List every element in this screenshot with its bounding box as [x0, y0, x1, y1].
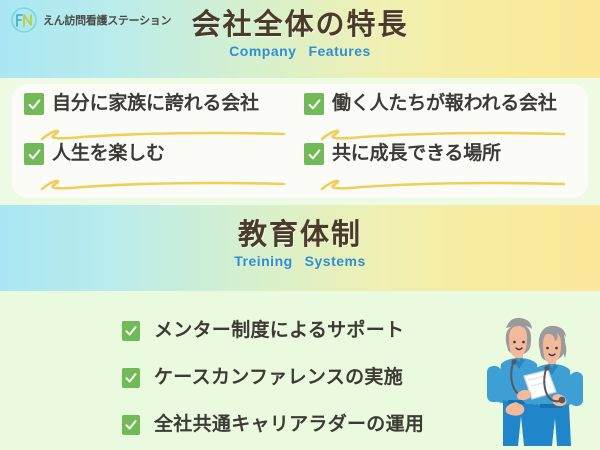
section-subtitle-word-1: Company — [229, 43, 296, 59]
list-item-label: 人生を楽しむ — [52, 140, 165, 168]
training-list: メンター制度によるサポート ケースカンファレンスの実施 全社共通キャリアラダーの… — [122, 307, 424, 448]
list-item[interactable]: 働く人たちが報われる会社 — [300, 90, 580, 140]
section-heading-company: 会社全体の特長 CompanyFeatures — [0, 8, 600, 59]
list-item[interactable]: 自分に家族に誇れる会社 — [20, 90, 300, 140]
section-subtitle-en: CompanyFeatures — [0, 43, 600, 59]
list-item-label: 共に成長できる場所 — [332, 140, 501, 168]
section-subtitle-word-2: Systems — [305, 253, 366, 269]
company-features-card: 自分に家族に誇れる会社 働く人たちが報われる会社 人生を楽しむ — [12, 84, 588, 198]
list-item-label: 働く人たちが報われる会社 — [332, 90, 557, 118]
check-icon — [24, 143, 44, 165]
section-heading-training: 教育体制 TreiningSystems — [0, 218, 600, 269]
list-item-label: メンター制度によるサポート — [154, 317, 404, 345]
two-nurses-illustration — [476, 298, 594, 450]
check-icon — [304, 143, 324, 165]
slide-root: えん訪問看護ステーション 会社全体の特長 CompanyFeatures 自分に… — [0, 0, 600, 450]
list-item[interactable]: メンター制度によるサポート — [122, 307, 424, 354]
section-title-jp: 教育体制 — [0, 218, 600, 252]
section-subtitle-en: TreiningSystems — [0, 253, 600, 269]
list-item[interactable]: 人生を楽しむ — [20, 140, 300, 190]
section-subtitle-word-1: Treining — [234, 253, 292, 269]
underline-swoosh-icon — [318, 176, 568, 192]
section-title-jp: 会社全体の特長 — [0, 8, 600, 42]
underline-swoosh-icon — [38, 176, 288, 192]
list-item-label: ケースカンファレンスの実施 — [154, 364, 403, 392]
check-icon — [24, 93, 44, 115]
list-item[interactable]: 共に成長できる場所 — [300, 140, 580, 190]
list-item-label: 全社共通キャリアラダーの運用 — [154, 411, 424, 439]
list-item-label: 自分に家族に誇れる会社 — [52, 90, 259, 118]
list-item[interactable]: 全社共通キャリアラダーの運用 — [122, 401, 424, 448]
check-icon — [122, 321, 140, 341]
check-icon — [122, 415, 140, 435]
section-subtitle-word-2: Features — [308, 43, 370, 59]
list-item[interactable]: ケースカンファレンスの実施 — [122, 354, 424, 401]
check-icon — [122, 368, 140, 388]
training-systems-section: メンター制度によるサポート ケースカンファレンスの実施 全社共通キャリアラダーの… — [0, 291, 600, 450]
check-icon — [304, 93, 324, 115]
